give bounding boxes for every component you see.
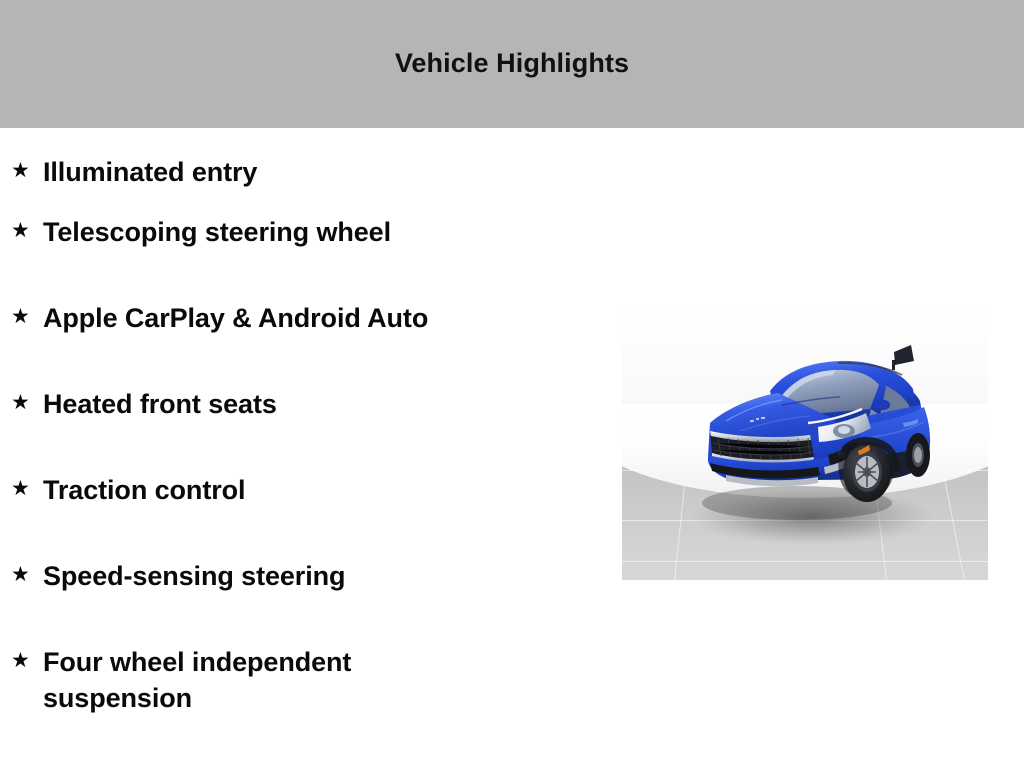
star-icon: ★	[11, 560, 43, 590]
highlight-label: Apple CarPlay & Android Auto	[43, 300, 428, 336]
highlight-label: Four wheel independent suspension	[43, 644, 463, 716]
star-icon: ★	[11, 156, 43, 186]
highlight-label: Speed-sensing steering	[43, 558, 345, 594]
list-item: ★ Four wheel independent suspension	[0, 644, 600, 730]
highlights-list: ★ Illuminated entry ★ Telescoping steeri…	[0, 128, 600, 730]
suv-illustration	[622, 305, 988, 580]
star-icon: ★	[11, 388, 43, 418]
star-icon: ★	[11, 646, 43, 676]
vehicle-photo	[622, 305, 988, 580]
header-bar: Vehicle Highlights	[0, 0, 1024, 128]
highlight-label: Heated front seats	[43, 386, 277, 422]
star-icon: ★	[11, 216, 43, 246]
list-item: ★ Traction control	[0, 472, 600, 558]
list-item: ★ Apple CarPlay & Android Auto	[0, 300, 600, 386]
star-icon: ★	[11, 302, 43, 332]
vehicle-highlights-slide: Vehicle Highlights ★ Illuminated entry ★…	[0, 0, 1024, 768]
highlight-label: Traction control	[43, 472, 245, 508]
list-item: ★ Illuminated entry	[0, 128, 600, 214]
star-icon: ★	[11, 474, 43, 504]
highlight-label: Illuminated entry	[43, 154, 257, 190]
list-item: ★ Telescoping steering wheel	[0, 214, 600, 300]
list-item: ★ Speed-sensing steering	[0, 558, 600, 644]
list-item: ★ Heated front seats	[0, 386, 600, 472]
highlight-label: Telescoping steering wheel	[43, 214, 391, 250]
page-title: Vehicle Highlights	[395, 50, 629, 77]
